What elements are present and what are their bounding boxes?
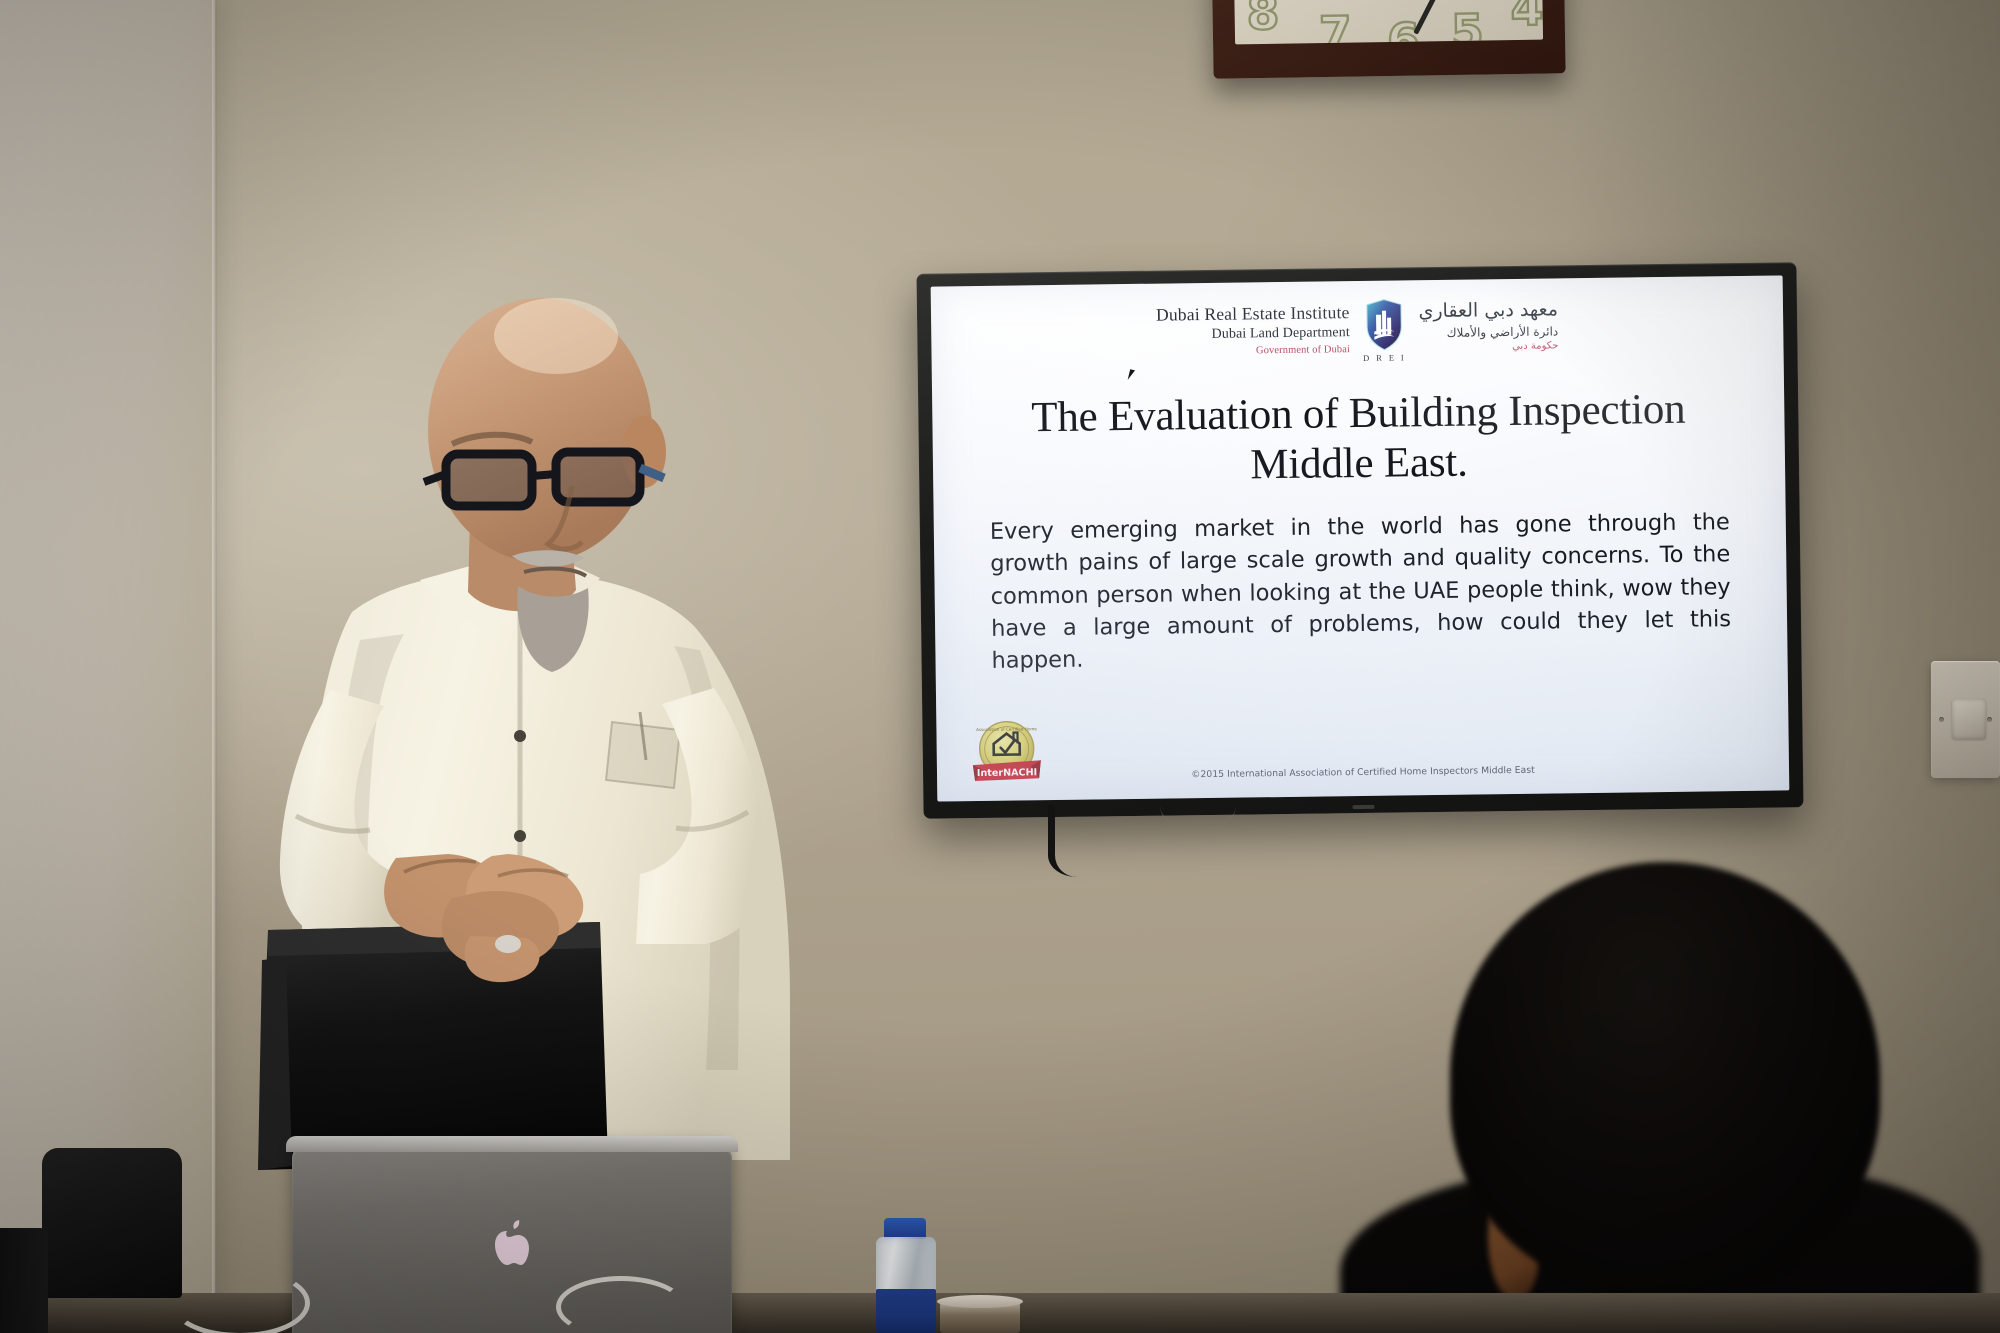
head-highlight [494,298,618,374]
seated-attendee-foreground [1370,862,1930,1333]
water-bottle[interactable] [872,1218,940,1333]
laptop-cable [556,1276,686,1333]
cup-rim [937,1295,1023,1308]
office-chair-back [258,922,608,1170]
wedding-ring [495,935,521,953]
paper-cup[interactable] [940,1300,1020,1333]
bottle-label [876,1289,936,1333]
laptop-lid-edge [286,1136,738,1152]
apple-logo-icon [491,1218,533,1268]
attendee-head [1450,862,1880,1292]
chair-left-edge [0,1228,48,1333]
loose-cable [170,1268,310,1333]
shirt-button-1 [514,730,526,742]
black-bag [42,1148,182,1298]
chair-side-edge [258,958,292,1170]
bottle-cap [884,1218,926,1239]
presentation-room-photo: 8 7 6 5 4 Dubai Real Estate Institute Du… [0,0,2000,1333]
shirt-button-2 [514,830,526,842]
